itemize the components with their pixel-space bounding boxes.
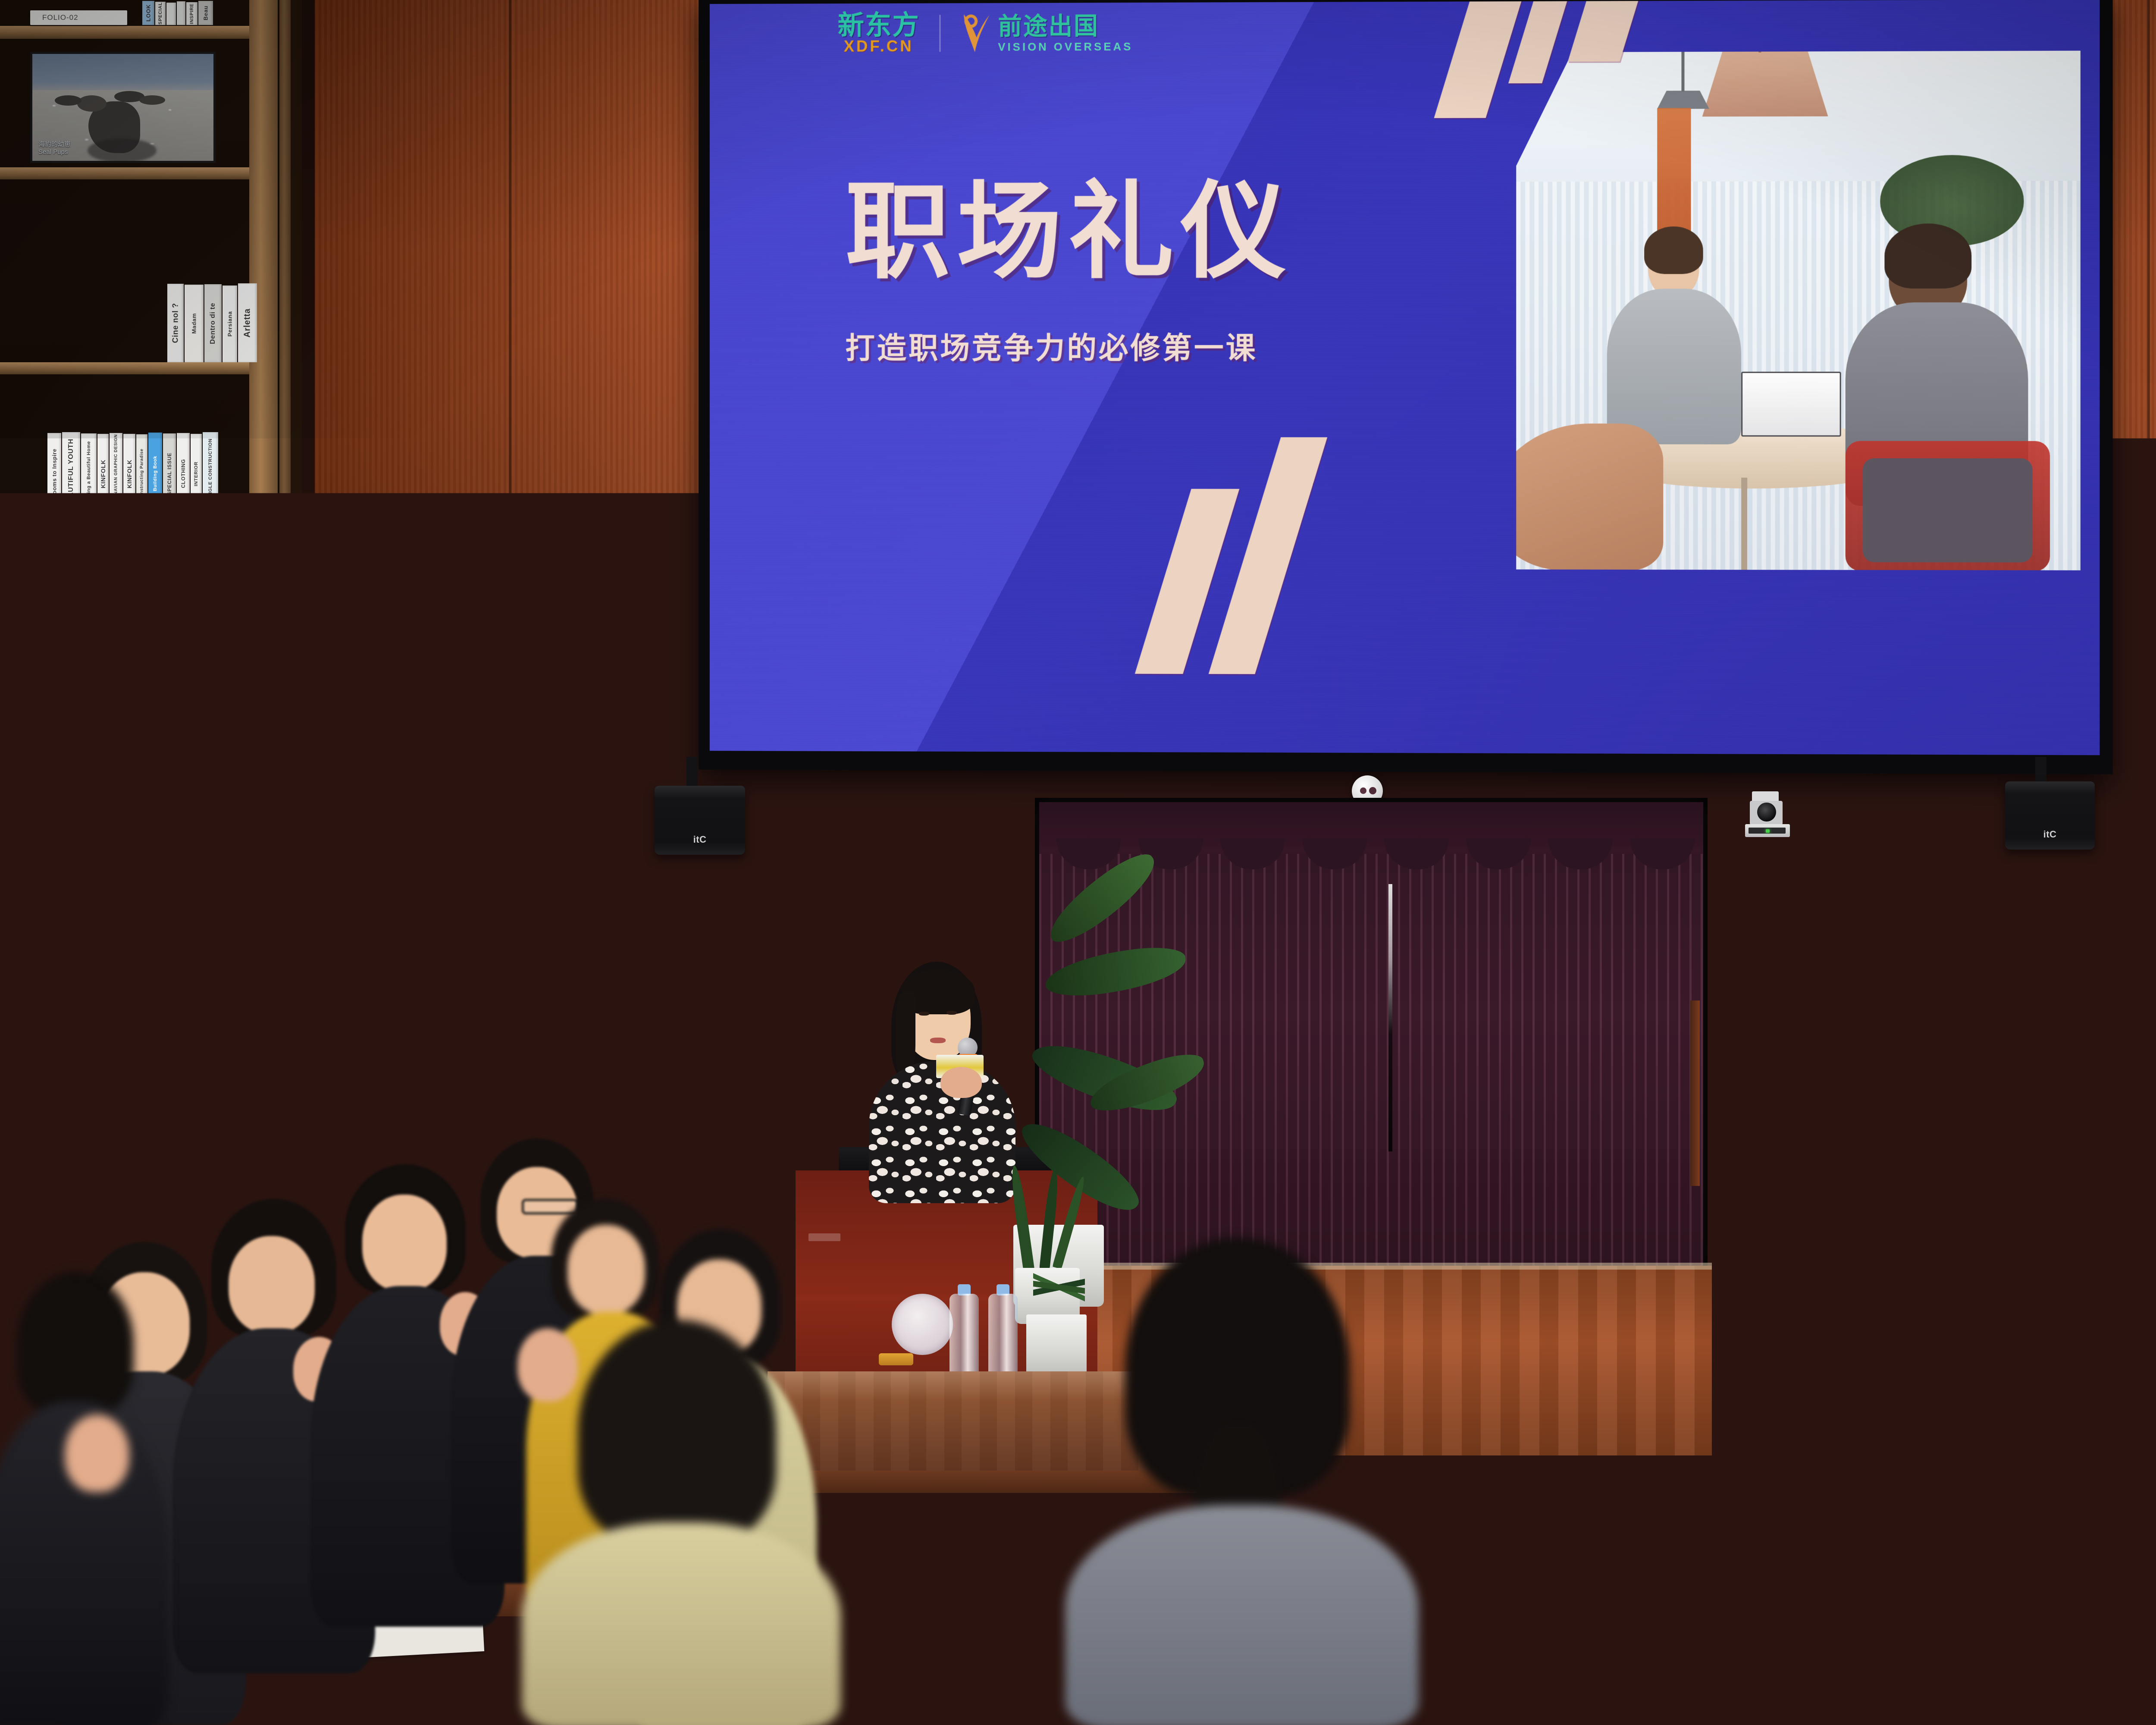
presenter-eye-left (919, 1012, 929, 1016)
framed-photo-title-en: Seal Pups (38, 148, 71, 157)
right-speaker: itC (2005, 781, 2095, 850)
xdf-logo-cn: 新东方 (838, 13, 920, 38)
framed-poster-lower (9, 832, 91, 923)
audience-right-7 (2027, 1406, 2156, 1725)
deco-slash-1 (1434, 0, 1529, 118)
brochure-display (9, 647, 78, 737)
vision-overseas-cn: 前途出国 (998, 13, 1133, 38)
book-row-low: Rooms to Inspire BEAUTIFUL YOUTH Creatin… (47, 431, 218, 514)
projection-screen[interactable]: 新东方 XDF.CN 前途出国 VISION OVERSEAS (694, 0, 2109, 772)
audience-left-7 (0, 1272, 155, 1725)
door-edge-right (1690, 1000, 1700, 1186)
folio-box-label: FOLIO-02 (42, 13, 78, 22)
right-speaker-mount (2035, 757, 2046, 783)
shelf-board-1 (0, 26, 259, 39)
presentation-slide: 新东方 XDF.CN 前途出国 VISION OVERSEAS (710, 0, 2100, 755)
aquarium-top-rail (405, 953, 681, 993)
aquarium-led-bar (483, 942, 655, 950)
shelf-board-3 (0, 362, 259, 374)
book-row-mid: Cine nol ? Madam Dentro di te Persiana A… (167, 282, 257, 362)
audience-foreground-right (1483, 1242, 1863, 1725)
lecture-hall-scene: 新东方 XDF.CN 前途出国 VISION OVERSEAS (0, 0, 2156, 1725)
podium-nameplate (808, 1233, 840, 1241)
emblem-stand (879, 1353, 913, 1365)
audience-foreground-left (513, 1320, 841, 1725)
right-speaker-brand: itC (2043, 829, 2057, 840)
slide-logo-row: 新东方 XDF.CN 前途出国 VISION OVERSEAS (838, 12, 1133, 54)
slide-subtitle: 打造职场竞争力的必修第一课 (845, 324, 1293, 367)
left-speaker: itC (655, 786, 745, 855)
vision-overseas-logo: 前途出国 VISION OVERSEAS (960, 12, 1133, 54)
folio-box: FOLIO-02 (30, 10, 127, 25)
audience-foreground-center (1065, 1238, 1419, 1725)
slide-photo (1516, 51, 2081, 571)
left-speaker-mount (686, 757, 698, 787)
framed-photo-title-cn: 海豹的幼崽 (38, 141, 71, 149)
shelf-board-4 (0, 513, 259, 524)
university-crest-plaque (892, 1294, 953, 1355)
framed-photo-seal-pups: 海豹的幼崽 Seal Pups (30, 52, 216, 163)
slide-title: 职场礼仪 (845, 179, 1293, 285)
xdf-logo: 新东方 XDF.CN (838, 13, 920, 53)
slide-text-block: 职场礼仪 打造职场竞争力的必修第一课 (845, 179, 1293, 367)
group-photo-print (86, 673, 185, 746)
logo-divider (939, 15, 940, 52)
curtain-valance (1039, 802, 1703, 854)
presenter-mouth (930, 1038, 946, 1043)
ptz-camera (1744, 791, 1792, 840)
shelf-books-blue-stack (30, 1164, 160, 1238)
shelf-board-2 (0, 167, 259, 179)
left-speaker-brand: itC (693, 834, 707, 845)
presenter-hand (940, 1067, 982, 1098)
door-light-gap (1388, 884, 1392, 1151)
screen-bezel: 新东方 XDF.CN 前途出国 VISION OVERSEAS (699, 0, 2113, 774)
deco-slash-5 (1209, 437, 1327, 674)
framed-photo-caption: 海豹的幼崽 Seal Pups (38, 141, 71, 157)
presenter-eye-right (946, 1011, 957, 1015)
bookcase: FOLIO-02 LOOK SPECIAL INSPIRE Beau 海豹的幼崽… (0, 0, 302, 1294)
xdf-logo-en: XDF.CN (844, 39, 914, 53)
book-row-top: LOOK SPECIAL INSPIRE Beau (142, 0, 213, 25)
vision-overseas-en: VISION OVERSEAS (998, 41, 1133, 52)
framed-poster-lower-2 (108, 845, 207, 923)
bookcase-outer-stile (279, 0, 291, 1294)
bookcase-right-stile (249, 0, 278, 1294)
vision-overseas-mark-icon (960, 13, 992, 54)
